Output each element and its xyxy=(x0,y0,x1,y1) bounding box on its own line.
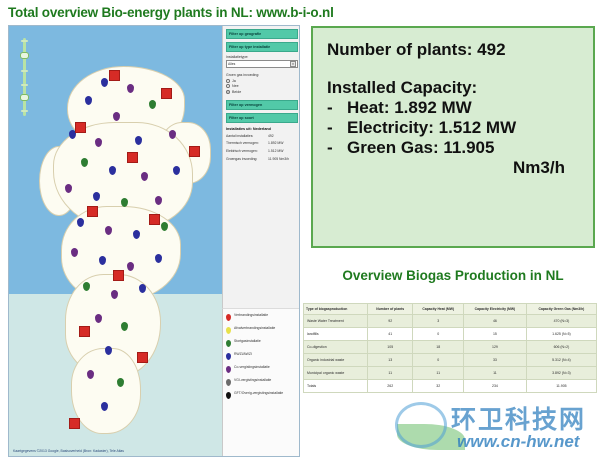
map-marker-cluster[interactable] xyxy=(149,214,160,225)
zoom-slider-track[interactable] xyxy=(23,38,26,116)
cell-heat: 18 xyxy=(413,341,464,354)
stats-title: Installaties uit: Nederland xyxy=(226,127,298,131)
map-marker-cluster[interactable] xyxy=(75,122,86,133)
greengas-unit-line: Nm3/h xyxy=(327,158,579,178)
table-row: Organic industrial waste 13 0 33 5.312 (… xyxy=(304,354,597,367)
legend-item[interactable]: Stortgasinstallatie xyxy=(226,339,298,347)
map-marker-cluster[interactable] xyxy=(127,152,138,163)
zoom-pan-handle[interactable] xyxy=(20,52,29,59)
legend-label: VGI-vergistingsinstallatie xyxy=(234,378,271,382)
cell-electricity: 234 xyxy=(464,380,527,393)
cell-heat: 32 xyxy=(413,380,464,393)
cell-electricity: 129 xyxy=(464,341,527,354)
stat-label: Groengas invoeding: xyxy=(226,157,266,161)
legend-label: Stortgasinstallatie xyxy=(234,339,261,343)
column-header-plants: Number of plants xyxy=(368,304,413,315)
table-row: Co-digestion 105 18 129 606 (N=2) xyxy=(304,341,597,354)
cell-greengas: 1.625 (N=5) xyxy=(526,328,596,341)
capacity-item-text: Heat: 1.892 MW xyxy=(347,98,472,118)
column-header-electricity: Capacity Electricity (MW) xyxy=(464,304,527,315)
bullet-dash: - xyxy=(327,138,341,158)
cell-plants: 11 xyxy=(368,367,413,380)
cell-type: landfills xyxy=(304,328,368,341)
table-header-row: Type of biogasproduction Number of plant… xyxy=(304,304,597,315)
radio-label: Beide xyxy=(232,90,241,94)
cell-plants: 92 xyxy=(368,315,413,328)
map-zoom-control[interactable] xyxy=(19,38,30,116)
watermark-chinese-text: 环卫科技网 xyxy=(451,400,586,436)
legend-marker-icon xyxy=(226,340,231,347)
filter-energy-header[interactable]: Filter op soort xyxy=(226,113,298,123)
cell-type: Co-digestion xyxy=(304,341,368,354)
map-canvas[interactable]: Kaartgegevens ©2013 Google, Basisoverhei… xyxy=(9,26,222,456)
zoom-tick[interactable] xyxy=(21,84,28,86)
capacity-item-text: Green Gas: 11.905 xyxy=(347,138,494,158)
radio-icon[interactable] xyxy=(226,84,230,88)
watermark-url: www.cn-hw.net xyxy=(457,432,579,452)
map-legend: Verbrandingsinstallatie Afvalverbranding… xyxy=(222,308,300,456)
green-gas-label: Groen gas invoeding: xyxy=(226,73,298,77)
radio-option-ja[interactable]: Ja xyxy=(226,79,298,83)
legend-marker-icon xyxy=(226,392,231,399)
legend-marker-icon xyxy=(226,353,231,360)
filter-geography-header[interactable]: Filter op geografie xyxy=(226,29,298,39)
page-root: Total overview Bio-energy plants in NL: … xyxy=(0,0,600,464)
cell-heat: 11 xyxy=(413,367,464,380)
legend-marker-icon xyxy=(226,314,231,321)
column-header-type: Type of biogasproduction xyxy=(304,304,368,315)
radio-option-beide[interactable]: Beide xyxy=(226,90,298,94)
cell-greengas: 606 (N=2) xyxy=(526,341,596,354)
installation-type-value: Alles xyxy=(228,62,235,66)
map-marker-cluster[interactable] xyxy=(137,352,148,363)
table-row: Municipal organic waste 11 11 11 3.892 (… xyxy=(304,367,597,380)
cell-heat: 0 xyxy=(413,354,464,367)
cell-electricity: 46 xyxy=(464,315,527,328)
cell-greengas: 470 (N=3) xyxy=(526,315,596,328)
capacity-heading: Installed Capacity: xyxy=(327,78,579,98)
bullet-dash: - xyxy=(327,98,341,118)
legend-label: Co-vergistingsinstallatie xyxy=(234,365,270,369)
legend-label: RWZI/AWZI xyxy=(234,352,252,356)
filter-installation-type-header[interactable]: Filter op type installatie xyxy=(226,42,298,52)
watermark: 环卫科技网 www.cn-hw.net xyxy=(395,398,595,460)
stat-row: Thermisch vermogen: 1.892 MW xyxy=(226,141,298,145)
map-marker-cluster[interactable] xyxy=(189,146,200,157)
cell-heat: 0 xyxy=(413,328,464,341)
zoom-slider-handle[interactable] xyxy=(20,94,29,101)
cell-greengas: 11.905 xyxy=(526,380,596,393)
table-row-totals: Totals 262 32 234 11.905 xyxy=(304,380,597,393)
stat-label: Aantal installaties: xyxy=(226,134,266,138)
page-title: Total overview Bio-energy plants in NL: … xyxy=(8,5,334,20)
table-title: Overview Biogas Production in NL xyxy=(311,268,595,283)
cell-electricity: 11 xyxy=(464,367,527,380)
leaf-icon xyxy=(397,424,465,450)
cell-type: Waste Water Treatment xyxy=(304,315,368,328)
legend-marker-icon xyxy=(226,327,231,334)
stat-row: Aantal installaties: 492 xyxy=(226,134,298,138)
cell-plants: 13 xyxy=(368,354,413,367)
stat-value: 492 xyxy=(268,134,298,138)
map-marker-cluster[interactable] xyxy=(109,70,120,81)
cell-electricity: 33 xyxy=(464,354,527,367)
map-marker-cluster[interactable] xyxy=(161,88,172,99)
legend-item[interactable]: Verbrandingsinstallatie xyxy=(226,313,298,321)
map-marker-cluster[interactable] xyxy=(79,326,90,337)
cell-electricity: 15 xyxy=(464,328,527,341)
legend-label: Afvalverbrandingsinstallatie xyxy=(234,326,275,330)
summary-callout: Number of plants: 492 Installed Capacity… xyxy=(311,26,595,248)
cell-plants: 262 xyxy=(368,380,413,393)
map-attribution: Kaartgegevens ©2013 Google, Basisoverhei… xyxy=(13,449,124,453)
legend-label: GFT/Overig-vergistingsinstallatie xyxy=(234,391,283,395)
cell-type: Municipal organic waste xyxy=(304,367,368,380)
cell-plants: 105 xyxy=(368,341,413,354)
column-header-greengas: Capacity Green Gas (Nm3/h) xyxy=(526,304,596,315)
legend-item[interactable]: Co-vergistingsinstallatie xyxy=(226,365,298,373)
chevron-down-icon[interactable]: ▾ xyxy=(290,61,296,67)
column-header-heat: Capacity Heat (MW) xyxy=(413,304,464,315)
map-marker-cluster[interactable] xyxy=(87,206,98,217)
radio-label: Nee xyxy=(232,84,239,88)
globe-icon xyxy=(395,402,447,448)
stat-value: 11.905 Nm3/h xyxy=(268,157,298,161)
radio-label: Ja xyxy=(232,79,236,83)
capacity-item-text: Electricity: 1.512 MW xyxy=(347,118,516,138)
zoom-tick[interactable] xyxy=(21,70,28,72)
capacity-item-electricity: - Electricity: 1.512 MW xyxy=(327,118,579,138)
cell-heat: 3 xyxy=(413,315,464,328)
legend-marker-icon xyxy=(226,379,231,386)
stat-value: 1.892 MW xyxy=(268,141,298,145)
cell-type: Totals xyxy=(304,380,368,393)
biogas-production-table: Type of biogasproduction Number of plant… xyxy=(303,303,597,393)
zoom-in-tick[interactable] xyxy=(21,40,28,42)
stat-label: Thermisch vermogen: xyxy=(226,141,266,145)
radio-option-nee[interactable]: Nee xyxy=(226,84,298,88)
cell-greengas: 5.312 (N=4) xyxy=(526,354,596,367)
stat-row: Groengas invoeding: 11.905 Nm3/h xyxy=(226,157,298,161)
table-row: Waste Water Treatment 92 3 46 470 (N=3) xyxy=(304,315,597,328)
stat-value: 1.512 MW xyxy=(268,149,298,153)
legend-item[interactable]: RWZI/AWZI xyxy=(226,352,298,360)
legend-label: Verbrandingsinstallatie xyxy=(234,313,268,317)
bullet-dash: - xyxy=(327,118,341,138)
capacity-item-heat: - Heat: 1.892 MW xyxy=(327,98,579,118)
cell-plants: 41 xyxy=(368,328,413,341)
zoom-out-tick[interactable] xyxy=(21,110,28,112)
stat-label: Elektrisch vermogen: xyxy=(226,149,266,153)
legend-marker-icon xyxy=(226,366,231,373)
filter-power-header[interactable]: Filter op vermogen xyxy=(226,100,298,110)
map-marker-cluster[interactable] xyxy=(69,418,80,429)
plants-count-line: Number of plants: 492 xyxy=(327,40,579,60)
table-row: landfills 41 0 15 1.625 (N=5) xyxy=(304,328,597,341)
legend-item[interactable]: VGI-vergistingsinstallatie xyxy=(226,378,298,386)
capacity-item-greengas: - Green Gas: 11.905 xyxy=(327,138,579,158)
stat-row: Elektrisch vermogen: 1.512 MW xyxy=(226,149,298,153)
installation-type-select[interactable]: Alles ▾ xyxy=(226,60,298,68)
legend-item[interactable]: GFT/Overig-vergistingsinstallatie xyxy=(226,391,298,399)
map-application: Kaartgegevens ©2013 Google, Basisoverhei… xyxy=(8,25,300,457)
map-marker-cluster[interactable] xyxy=(113,270,124,281)
radio-icon-selected[interactable] xyxy=(226,90,230,94)
cell-greengas: 3.892 (N=3) xyxy=(526,367,596,380)
cell-type: Organic industrial waste xyxy=(304,354,368,367)
installation-type-label: Installatietype: xyxy=(226,55,298,59)
radio-icon[interactable] xyxy=(226,79,230,83)
map-landmass xyxy=(71,348,141,434)
legend-item[interactable]: Afvalverbrandingsinstallatie xyxy=(226,326,298,334)
